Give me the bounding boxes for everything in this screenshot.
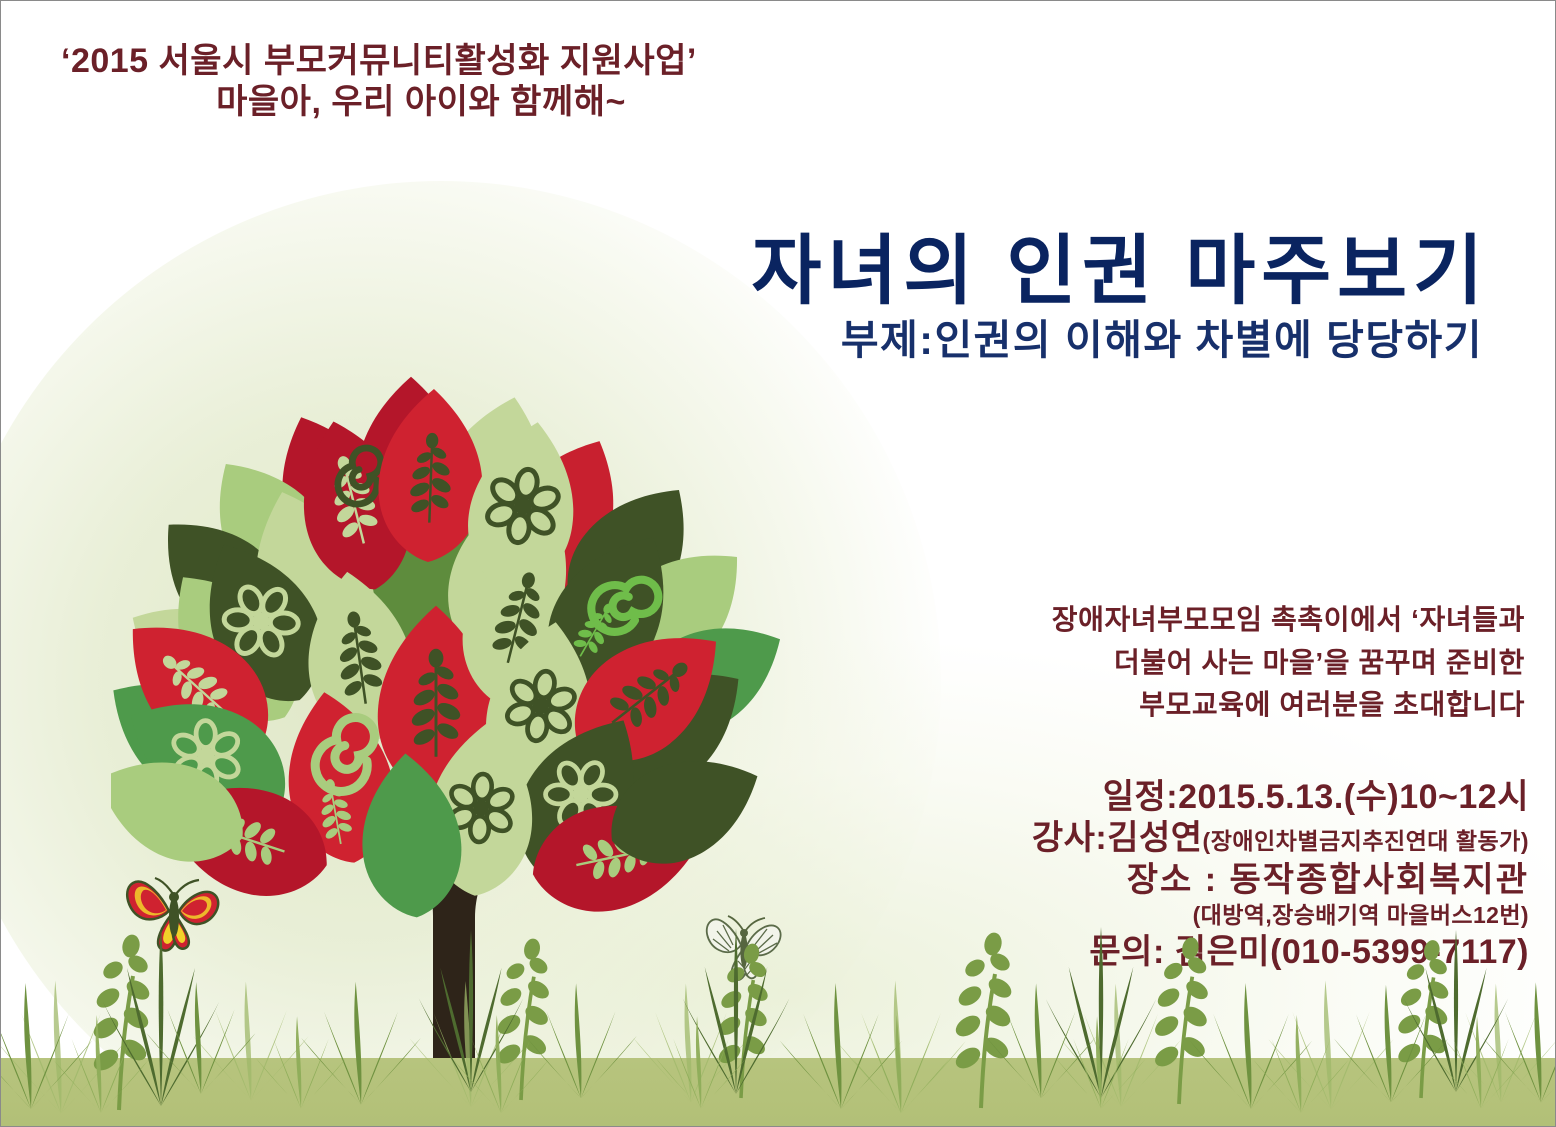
event-details: 일정:2015.5.13.(수)10~12시 강사:김성연(장애인차별금지추진연…: [869, 777, 1529, 973]
ground-band: [1, 1058, 1555, 1126]
detail-lecturer: 강사:김성연(장애인차별금지추진연대 활동가): [869, 818, 1529, 859]
detail-transit: (대방역,장승배기역 마을버스12번): [869, 901, 1529, 931]
detail-schedule: 일정:2015.5.13.(수)10~12시: [869, 777, 1529, 818]
detail-lecturer-name: 강사:김성연: [1032, 819, 1203, 857]
tree-canopy-front: [111, 387, 777, 925]
invitation-line-3: 부모교육에 여러분을 초대합니다: [905, 684, 1525, 727]
decorative-leaf-tree: [111, 356, 811, 1096]
page-title: 자녀의 인권 마주보기: [751, 209, 1489, 319]
program-header-line-2: 마을아, 우리 아이와 함께해~: [61, 82, 721, 123]
invitation-line-1: 장애자녀부모모임 촉촉이에서 ‘자녀들과: [905, 599, 1525, 642]
detail-contact: 문의: 김은미(010-5399-7117): [869, 931, 1529, 974]
detail-lecturer-affiliation: (장애인차별금지추진연대 활동가): [1203, 828, 1529, 854]
invitation-line-2: 더불어 사는 마을’을 꿈꾸며 준비한: [905, 642, 1525, 685]
program-header: ‘2015 서울시 부모커뮤니티활성화 지원사업’ 마을아, 우리 아이와 함께…: [61, 41, 721, 124]
page-subtitle: 부제:인권의 이해와 차별에 당당하기: [841, 306, 1483, 366]
detail-venue: 장소 : 동작종합사회복지관: [869, 860, 1529, 901]
invitation-text: 장애자녀부모모임 촉촉이에서 ‘자녀들과 더불어 사는 마을’을 꿈꾸며 준비한…: [905, 599, 1525, 727]
program-header-line-1: ‘2015 서울시 부모커뮤니티활성화 지원사업’: [61, 41, 721, 82]
poster-canvas: ‘2015 서울시 부모커뮤니티활성화 지원사업’ 마을아, 우리 아이와 함께…: [0, 0, 1556, 1127]
